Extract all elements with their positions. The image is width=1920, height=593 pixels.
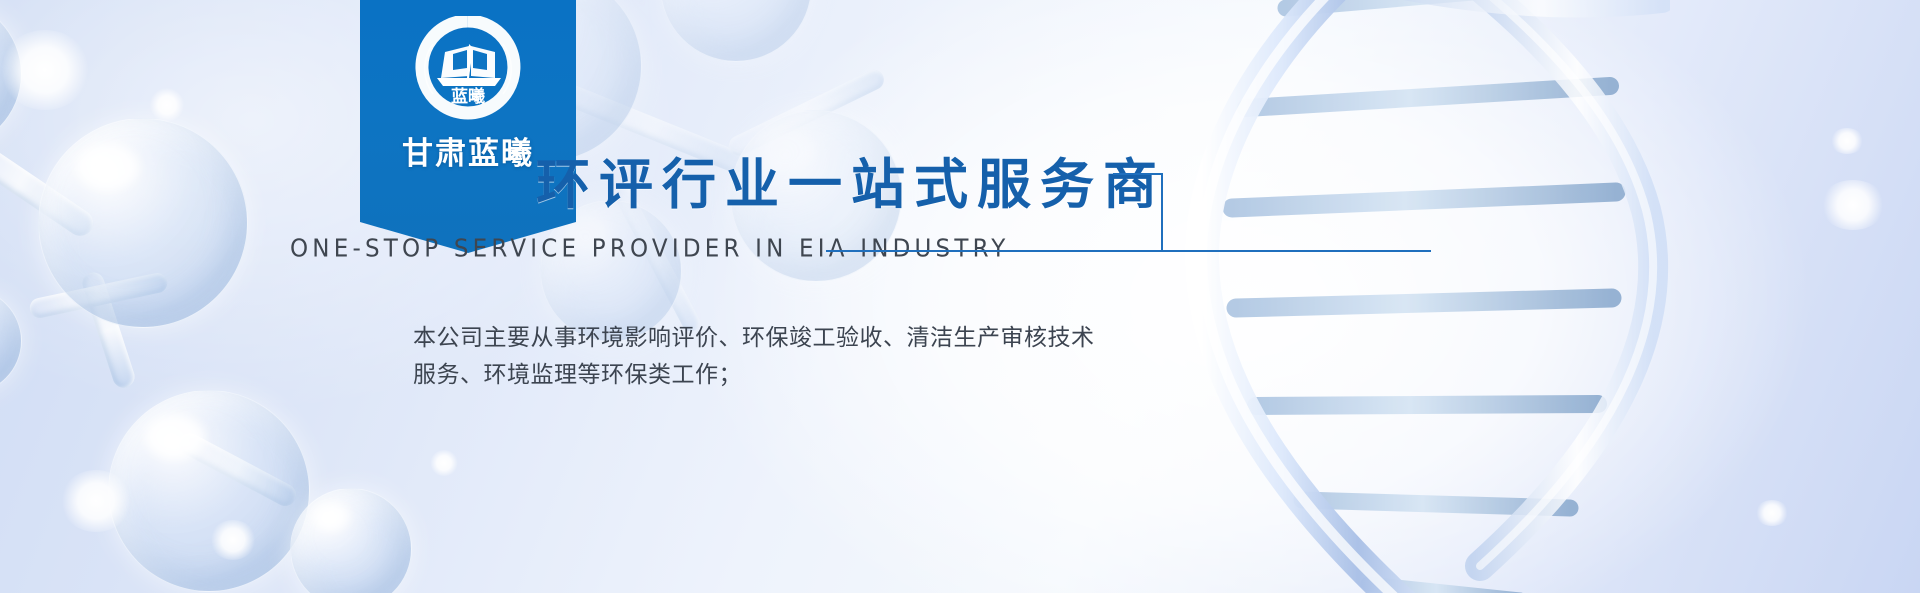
bokeh-light-icon — [150, 88, 184, 122]
description-line-2: 服务、环境监理等环保类工作； — [413, 357, 1253, 394]
bokeh-light-icon — [430, 450, 458, 476]
bokeh-light-icon — [210, 520, 256, 560]
molecule-spheres-icon — [0, 0, 340, 530]
bokeh-light-icon — [0, 30, 90, 110]
bokeh-light-icon — [1755, 500, 1789, 526]
bokeh-light-icon — [1830, 128, 1864, 154]
description-line-1: 本公司主要从事环境影响评价、环保竣工验收、清洁生产审核技术 — [413, 320, 1253, 357]
bokeh-light-icon — [1820, 180, 1886, 230]
description-paragraph: 本公司主要从事环境影响评价、环保竣工验收、清洁生产审核技术 服务、环境监理等环保… — [413, 320, 1253, 394]
bracket-top-segment — [1113, 173, 1163, 175]
bokeh-light-icon — [60, 470, 132, 532]
headline-chinese: 环评行业一站式服务商 — [536, 140, 1166, 219]
bracket-rule — [1113, 173, 1163, 251]
hero-banner: 蓝曦 甘肃蓝曦 环评行业一站式服务商 ONE-STOP SERVICE PROV… — [0, 0, 1920, 593]
bracket-right-segment — [1161, 173, 1163, 251]
headline-english: ONE-STOP SERVICE PROVIDER IN EIA INDUSTR… — [290, 235, 1010, 263]
logo-inner-text: 蓝曦 — [451, 86, 485, 107]
molecule-spheres-icon — [60, 370, 420, 593]
company-logo-icon: 蓝曦 — [409, 16, 527, 122]
dna-helix-icon — [1050, 0, 1670, 593]
